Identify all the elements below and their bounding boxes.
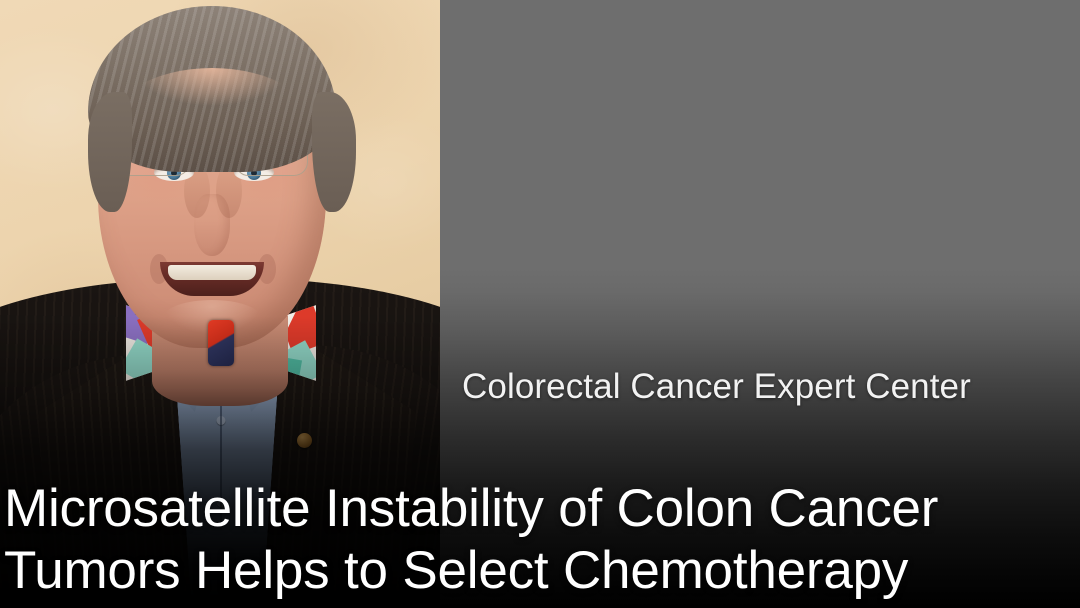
title-line-2: Tumors Helps to Select Chemotherapy xyxy=(4,540,1076,602)
teeth xyxy=(168,265,256,280)
shirt-button-upper xyxy=(217,416,226,425)
program-subtitle: Colorectal Cancer Expert Center xyxy=(462,368,1062,407)
lapel-pin xyxy=(297,433,312,448)
page-title: Microsatellite Instability of Colon Canc… xyxy=(4,478,1076,602)
smiling-mouth xyxy=(160,262,264,296)
bow-tie-knot xyxy=(208,320,234,366)
nose xyxy=(194,194,230,256)
video-thumbnail-card: Colorectal Cancer Expert Center Microsat… xyxy=(0,0,1080,608)
hair-side-right xyxy=(312,92,356,212)
title-line-1: Microsatellite Instability of Colon Canc… xyxy=(4,478,1076,540)
hair-side-left xyxy=(88,92,132,212)
